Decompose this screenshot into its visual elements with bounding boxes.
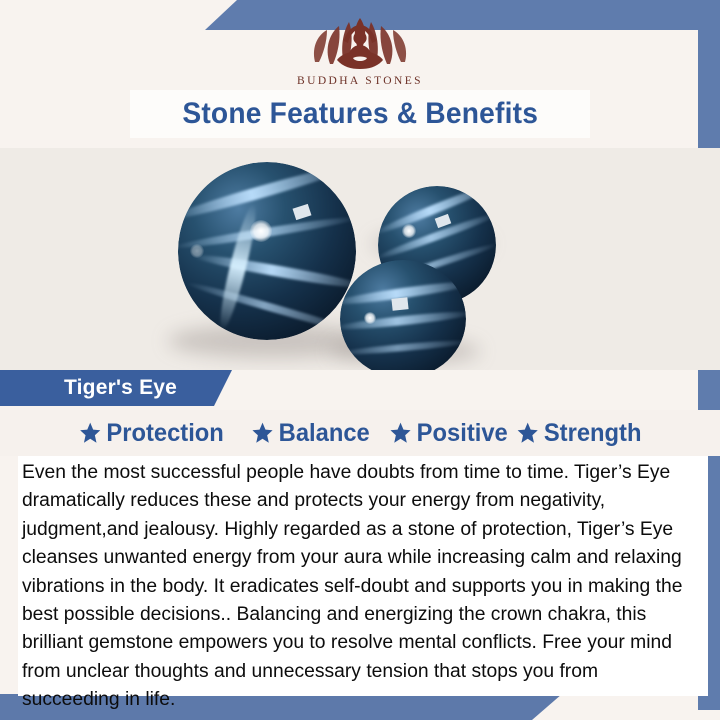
- benefits-row: Protection Balance Positive Strength: [0, 410, 720, 456]
- brand-logo: BUDDHA STONES: [0, 12, 720, 87]
- benefit-item-positive: Positive: [389, 419, 508, 448]
- title-band: Stone Features & Benefits: [130, 90, 590, 138]
- benefit-label: Protection: [107, 419, 224, 448]
- benefit-label: Strength: [544, 419, 642, 448]
- lotus-meditation-figure-icon: [297, 12, 423, 74]
- infographic-page: BUDDHA STONES Stone Features & Benefits: [0, 0, 720, 720]
- brand-name: BUDDHA STONES: [297, 75, 423, 87]
- benefit-item-protection: Protection: [79, 419, 224, 448]
- star-icon: [251, 421, 274, 445]
- stone-sphere-large: [178, 162, 356, 340]
- description-panel: Even the most successful people have dou…: [18, 456, 708, 696]
- description-text: Even the most successful people have dou…: [18, 456, 698, 714]
- benefit-item-balance: Balance: [251, 419, 370, 448]
- benefit-label: Positive: [417, 419, 508, 448]
- blue-tigers-eye-spheres-photo: [0, 148, 720, 370]
- page-title: Stone Features & Benefits: [182, 97, 538, 131]
- star-icon: [79, 421, 102, 445]
- stone-name-label: Tiger's Eye: [64, 376, 177, 400]
- star-icon: [389, 421, 412, 445]
- stone-name-banner: Tiger's Eye: [0, 370, 232, 406]
- benefit-label: Balance: [279, 419, 370, 448]
- benefit-item-strength: Strength: [516, 419, 641, 448]
- star-icon: [516, 421, 539, 445]
- stone-sphere-small: [340, 260, 466, 370]
- header: BUDDHA STONES Stone Features & Benefits: [0, 0, 720, 148]
